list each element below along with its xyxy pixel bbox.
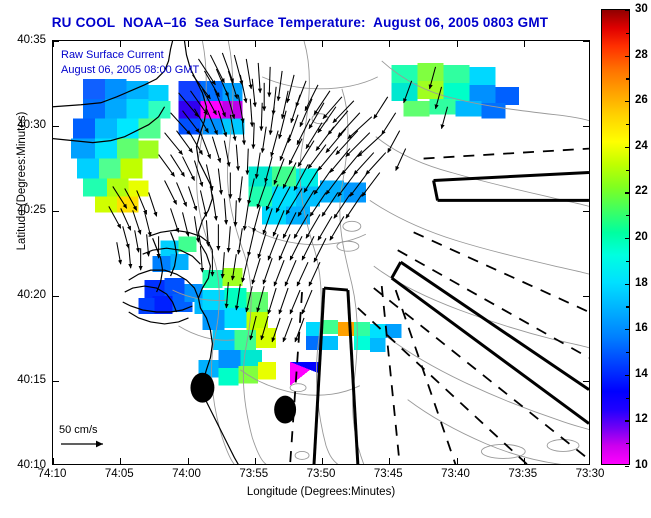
y-axis-tick-label: 40:20 [17, 289, 46, 301]
colorbar-minor-tick [626, 443, 629, 444]
y-axis-title: Latitude (Degrees:Minutes) [16, 81, 28, 281]
colorbar-minor-tick [626, 215, 629, 216]
colorbar-tick [625, 466, 629, 467]
velocity-scale-legend: 50 cm/s [59, 424, 111, 450]
colorbar-minor-tick [626, 261, 629, 262]
colorbar-tick-label: 16 [635, 322, 648, 334]
colorbar [601, 9, 630, 465]
colorbar-tick [625, 10, 629, 11]
colorbar-minor-tick [626, 124, 629, 125]
x-axis-tick-label: 73:40 [441, 468, 470, 480]
colorbar-tick-label: 18 [635, 277, 648, 289]
colorbar-tick-label: 20 [635, 231, 648, 243]
colorbar-tick [625, 329, 629, 330]
colorbar-tick [625, 238, 629, 239]
y-axis-tick-label: 40:15 [17, 374, 46, 386]
sst-map-figure: RU COOL NOAA–16 Sea Surface Temperature:… [0, 0, 651, 518]
colorbar-tick [625, 284, 629, 285]
right-arrow-icon [59, 438, 111, 450]
map-plot-area[interactable]: Raw Surface Current August 06, 2005 08:0… [52, 40, 590, 465]
colorbar-tick-label: 24 [635, 140, 648, 152]
colorbar-tick [625, 56, 629, 57]
colorbar-tick [625, 192, 629, 193]
x-axis-tick-label: 73:45 [374, 468, 403, 480]
colorbar-tick-label: 26 [635, 94, 648, 106]
colorbar-minor-tick [626, 398, 629, 399]
mooring-marker [274, 396, 296, 424]
colorbar-tick-label: 10 [635, 459, 648, 471]
colorbar-minor-tick [626, 170, 629, 171]
colorbar-minor-tick [626, 306, 629, 307]
y-axis-tick-label: 40:10 [17, 459, 46, 471]
x-axis-title: Longitude (Degrees:Minutes) [52, 486, 590, 498]
colorbar-tick [625, 420, 629, 421]
colorbar-minor-tick [626, 33, 629, 34]
x-axis-tick-label: 73:55 [239, 468, 268, 480]
velocity-scale-label: 50 cm/s [59, 424, 111, 436]
colorbar-tick [625, 147, 629, 148]
colorbar-tick-label: 22 [635, 185, 648, 197]
colorbar-tick [625, 101, 629, 102]
mooring-marker [190, 373, 214, 403]
colorbar-tick-label: 28 [635, 49, 648, 61]
colorbar-tick-label: 12 [635, 413, 648, 425]
y-axis-tick-label: 40:35 [17, 34, 46, 46]
x-axis-tick-label: 73:30 [576, 468, 605, 480]
colorbar-minor-tick [626, 352, 629, 353]
colorbar-tick-label: 30 [635, 3, 648, 15]
mooring-marker-layer [53, 41, 589, 464]
colorbar-minor-tick [626, 78, 629, 79]
colorbar-tick [625, 375, 629, 376]
x-axis-tick-label: 73:50 [307, 468, 336, 480]
colorbar-tick-label: 14 [635, 368, 648, 380]
x-axis-tick-label: 74:05 [105, 468, 134, 480]
figure-title: RU COOL NOAA–16 Sea Surface Temperature:… [0, 15, 600, 30]
x-axis-tick-label: 74:00 [172, 468, 201, 480]
x-axis-tick-label: 73:35 [508, 468, 537, 480]
